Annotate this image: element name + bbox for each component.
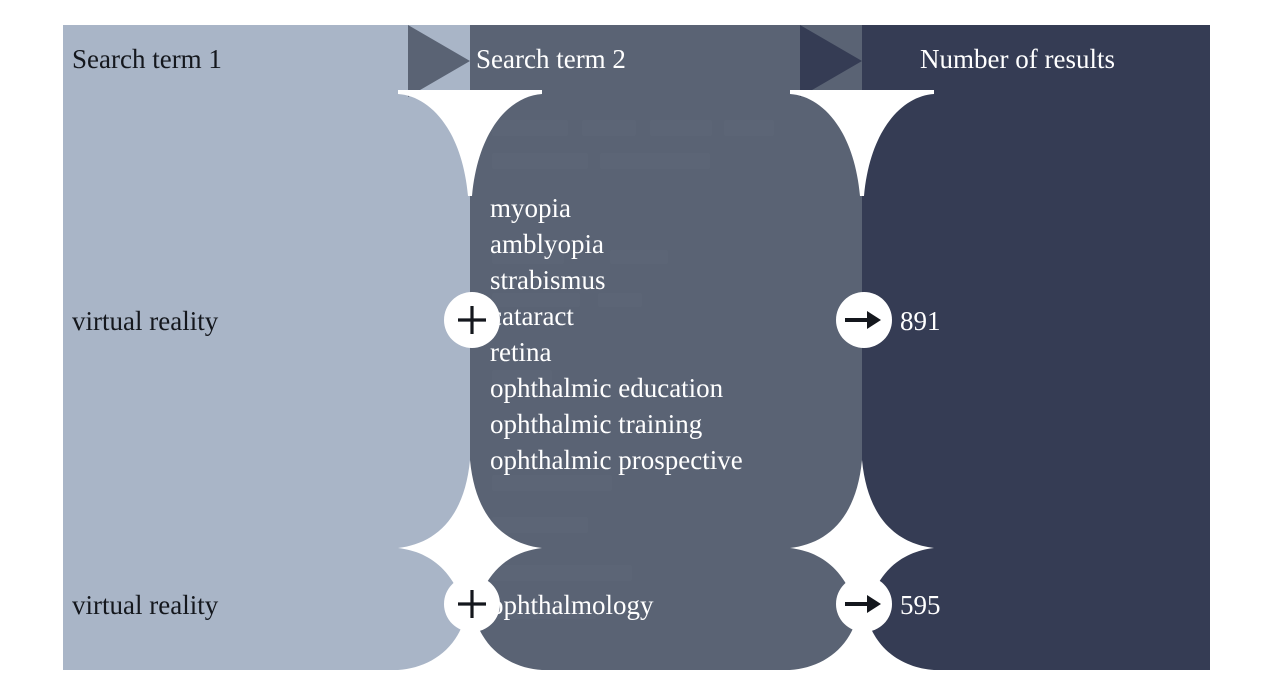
header-number-of-results: Number of results: [920, 46, 1115, 73]
list-item: strabismus: [490, 262, 743, 298]
row-1-number-of-results: 891: [900, 308, 941, 335]
header-search-term-1: Search term 1: [72, 46, 222, 73]
header-search-term-2: Search term 2: [476, 46, 626, 73]
list-item: cataract: [490, 298, 743, 334]
list-item: retina: [490, 334, 743, 370]
row-1-arrow-right-icon: [836, 292, 892, 348]
list-item: amblyopia: [490, 226, 743, 262]
list-item: ophthalmology: [490, 592, 654, 619]
row-1-search-term-2-list: myopia amblyopia strabismus cataract ret…: [490, 190, 743, 478]
row-2-search-term-2-list: ophthalmology: [490, 592, 654, 619]
row-2-arrow-right-icon: [836, 576, 892, 632]
row-2-number-of-results: 595: [900, 592, 941, 619]
list-item: ophthalmic education: [490, 370, 743, 406]
list-item: ophthalmic prospective: [490, 442, 743, 478]
diagram-canvas: Search term 1 Search term 2 Number of re…: [0, 0, 1268, 682]
list-item: ophthalmic training: [490, 406, 743, 442]
row-1-search-term-1: virtual reality: [72, 308, 218, 335]
column-number-of-results: [862, 25, 1210, 670]
column-search-term-1: [63, 25, 470, 670]
row-2-search-term-1: virtual reality: [72, 592, 218, 619]
list-item: myopia: [490, 190, 743, 226]
